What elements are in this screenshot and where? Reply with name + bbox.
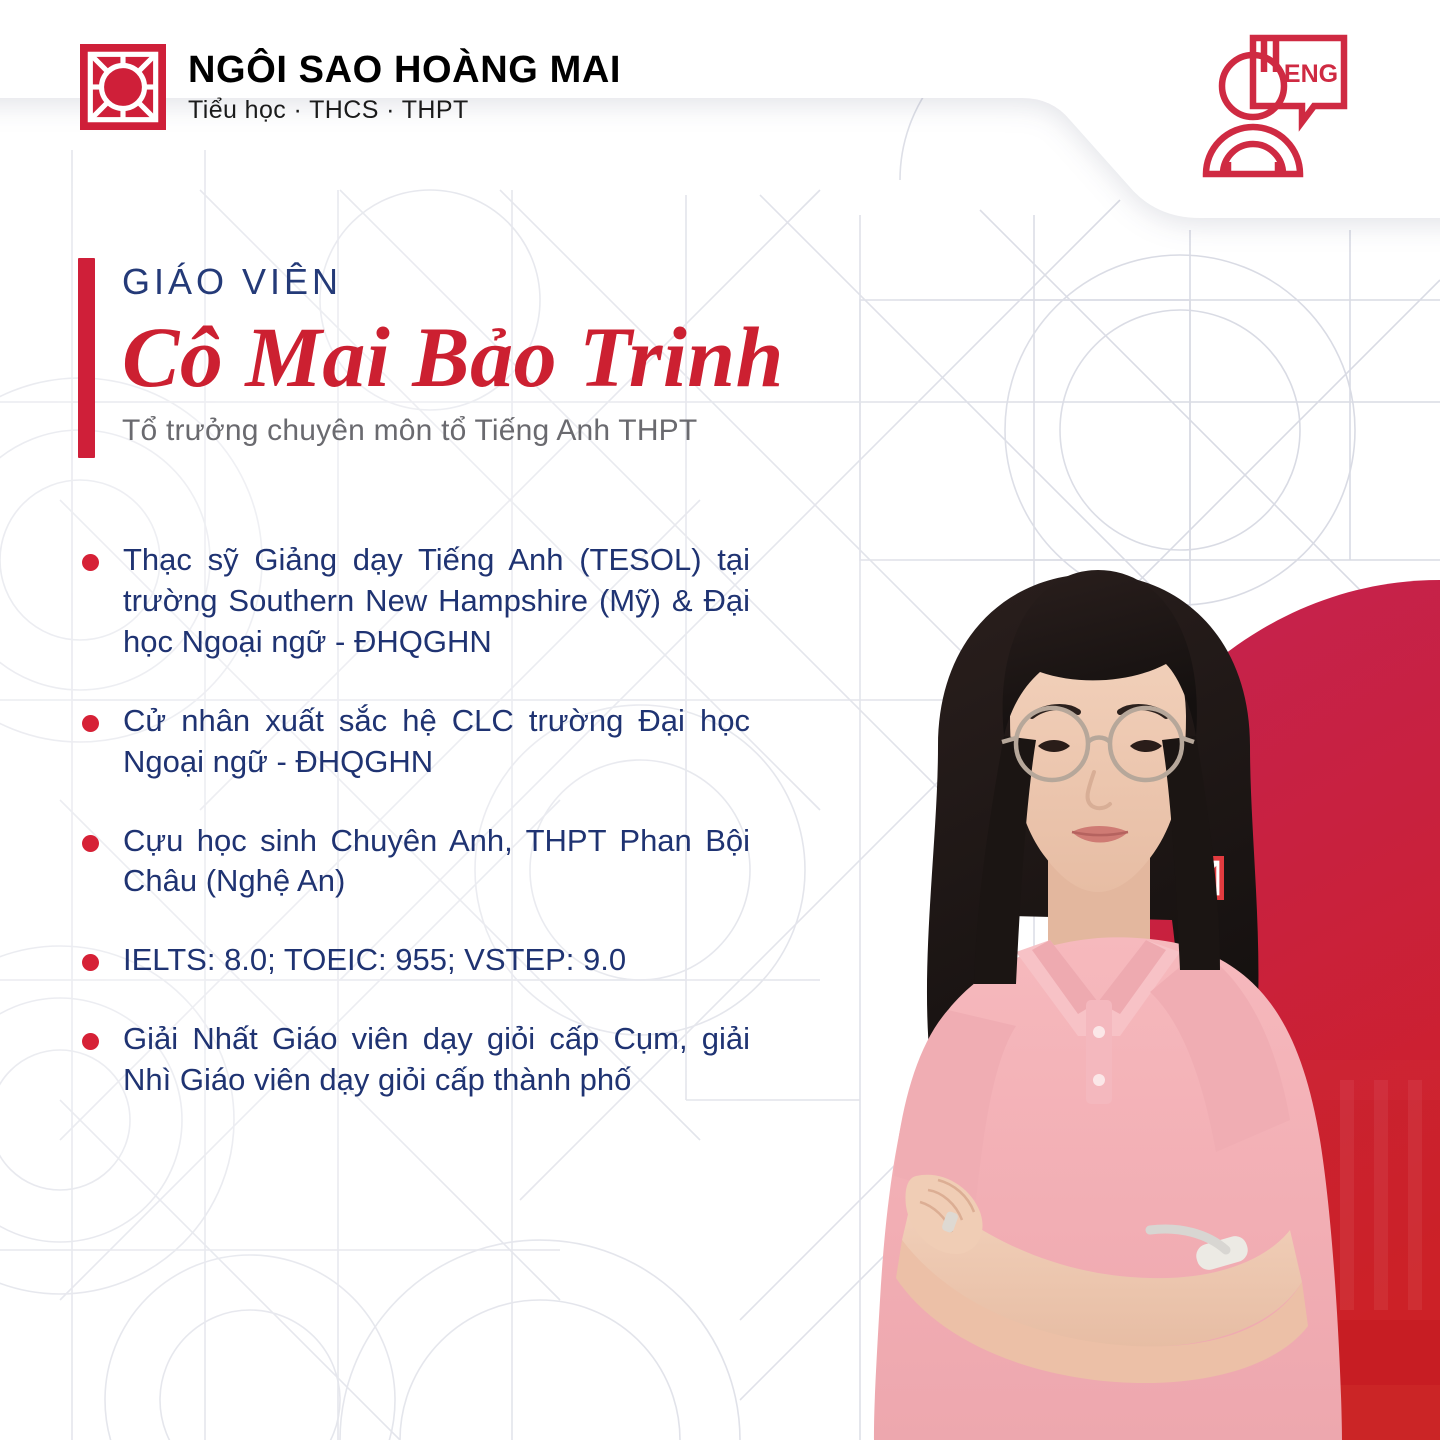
bullet-dot-icon (82, 954, 99, 971)
bullet-dot-icon (82, 835, 99, 852)
eng-badge-label: ENG (1284, 60, 1338, 88)
accent-bar (78, 258, 95, 458)
brand-levels: Tiểu học · THCS · THPT (188, 97, 621, 125)
credential-text: IELTS: 8.0; TOEIC: 955; VSTEP: 9.0 (123, 940, 750, 981)
bullet-dot-icon (82, 554, 99, 571)
list-item: Cựu học sinh Chuyên Anh, THPT Phan Bội C… (78, 821, 750, 903)
portrait-stage (680, 540, 1440, 1440)
credentials-list: Thạc sỹ Giảng dạy Tiếng Anh (TESOL) tại … (78, 540, 750, 1101)
brand-name: NGÔI SAO HOÀNG MAI (188, 50, 621, 91)
credential-text: Giải Nhất Giáo viên dạy giỏi cấp Cụm, gi… (123, 1019, 750, 1101)
credential-text: Cựu học sinh Chuyên Anh, THPT Phan Bội C… (123, 821, 750, 903)
header-content: NGÔI SAO HOÀNG MAI Tiểu học · THCS · THP… (0, 0, 1440, 220)
hero-texts: GIÁO VIÊN Cô Mai Bảo Trinh Tổ trưởng chu… (122, 258, 784, 458)
list-item: Giải Nhất Giáo viên dạy giỏi cấp Cụm, gi… (78, 1019, 750, 1101)
hero-title-block: GIÁO VIÊN Cô Mai Bảo Trinh Tổ trưởng chu… (78, 258, 784, 458)
hero-eyebrow: GIÁO VIÊN (122, 264, 784, 300)
bullet-dot-icon (82, 1033, 99, 1050)
person-speech-bubble-icon: ENG (1196, 24, 1356, 184)
school-seal-icon (80, 44, 166, 130)
list-item: Thạc sỹ Giảng dạy Tiếng Anh (TESOL) tại … (78, 540, 750, 663)
credential-text: Cử nhân xuất sắc hệ CLC trường Đại học N… (123, 701, 750, 783)
brand-lockup: NGÔI SAO HOÀNG MAI Tiểu học · THCS · THP… (80, 44, 621, 130)
teacher-name: Cô Mai Bảo Trinh (122, 314, 784, 402)
brand-text: NGÔI SAO HOÀNG MAI Tiểu học · THCS · THP… (188, 50, 621, 125)
list-item: Cử nhân xuất sắc hệ CLC trường Đại học N… (78, 701, 750, 783)
list-item: IELTS: 8.0; TOEIC: 955; VSTEP: 9.0 (78, 940, 750, 981)
bullet-dot-icon (82, 715, 99, 732)
credential-text: Thạc sỹ Giảng dạy Tiếng Anh (TESOL) tại … (123, 540, 750, 663)
teacher-profile-poster: NGÔI SAO HOÀNG MAI Tiểu học · THCS · THP… (0, 0, 1440, 1440)
teacher-role: Tổ trưởng chuyên môn tổ Tiếng Anh THPT (122, 414, 784, 448)
